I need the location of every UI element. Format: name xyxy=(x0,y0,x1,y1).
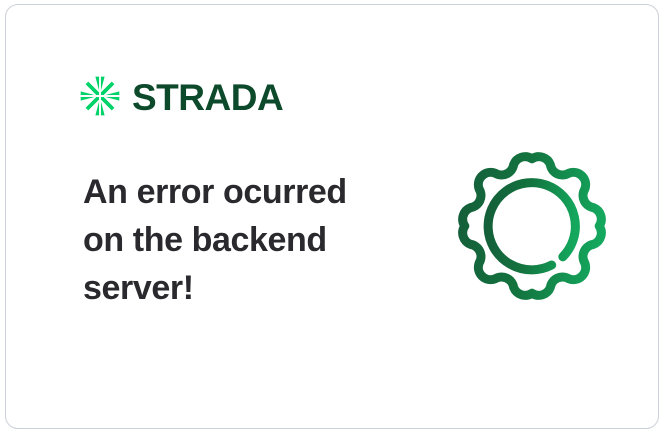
brand-lockup: STRADA xyxy=(79,73,283,119)
strada-asterisk-icon xyxy=(79,75,121,117)
error-message-line-3: server! xyxy=(83,264,383,312)
error-message-line-2: on the backend xyxy=(83,216,383,264)
error-message-line-1: An error ocurred xyxy=(83,168,383,216)
brand-wordmark: STRADA xyxy=(132,79,283,116)
error-card: STRADA An error ocurred on the backend s… xyxy=(5,4,659,429)
error-message: An error ocurred on the backend server! xyxy=(83,168,383,312)
gear-icon xyxy=(450,144,614,308)
